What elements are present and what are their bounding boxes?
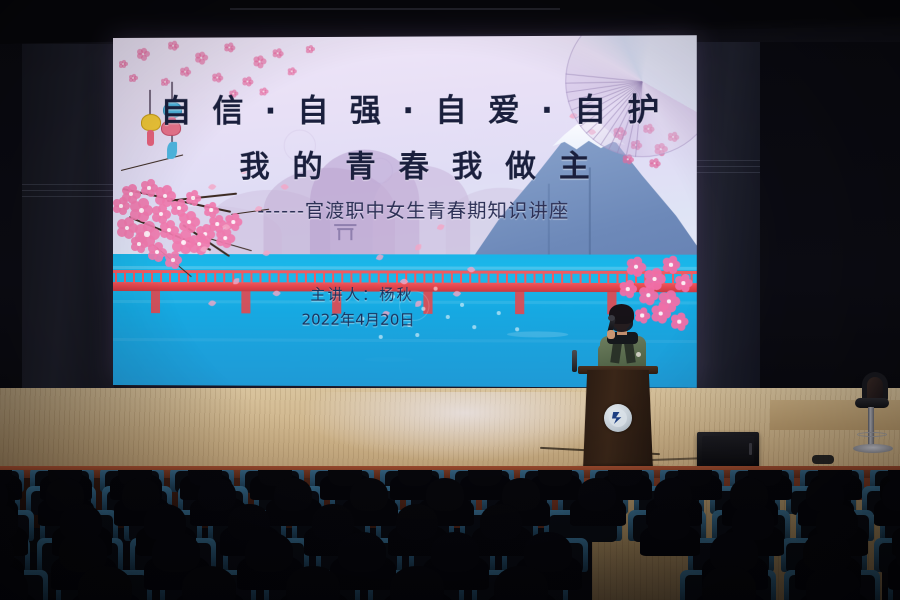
right-acoustic-panel [688, 28, 760, 390]
slide-subtitle: ------官渡职中女生青春期知识讲座 [123, 196, 697, 223]
speaker-hand [607, 330, 615, 339]
microphone-head-icon [608, 315, 615, 321]
slide-title-line1: 自 信 · 自 强 · 自 爱 · 自 护 [121, 84, 697, 131]
monitor-grille [702, 436, 754, 464]
bar-stool-base [853, 444, 893, 453]
stage-floor-shadow [0, 388, 250, 474]
speaker-badge [636, 352, 641, 357]
podium-microphone [572, 350, 577, 372]
slide-presenter: 主讲人：杨秋 [113, 283, 656, 305]
stage-floor-highlight [300, 392, 630, 462]
ceiling-seam [230, 8, 560, 10]
slide-date: 2022年4月20日 [113, 308, 651, 331]
bar-stool-pole [868, 407, 874, 449]
bar-stool-footring [857, 432, 887, 437]
auditorium-scene: 自 信 · 自 强 · 自 爱 · 自 护 我 的 青 春 我 做 主 ----… [0, 0, 900, 600]
monitor-handle [749, 443, 752, 455]
floor-object [812, 455, 834, 464]
left-acoustic-panel [22, 44, 114, 392]
slide-title-line2: 我 的 青 春 我 做 主 [127, 141, 697, 186]
audience-seating [0, 470, 900, 600]
